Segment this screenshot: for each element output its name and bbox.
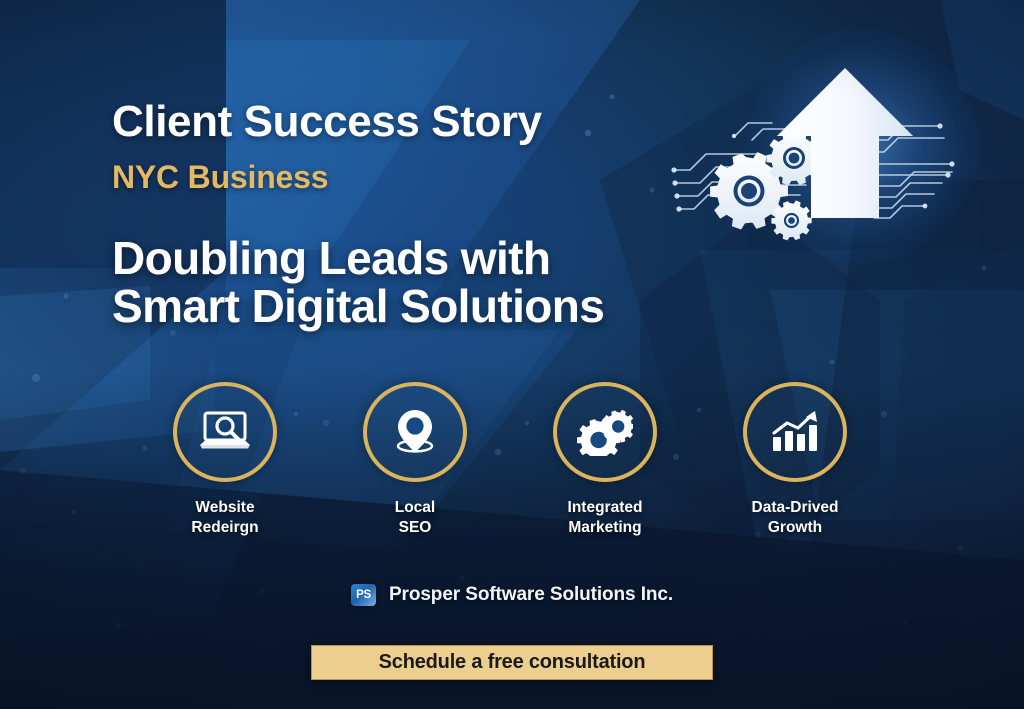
- feature-label: Website Redeirgn: [191, 498, 258, 539]
- main-title-line-1: Doubling Leads with: [112, 234, 812, 282]
- company-logo-badge: PS: [351, 584, 376, 606]
- feature-label: Local SEO: [395, 498, 435, 539]
- feature-list: Website Redeirgn Local SEO: [140, 382, 880, 539]
- feature-item-integrated-marketing[interactable]: Integrated Marketing: [520, 382, 690, 539]
- poster-canvas: Client Success Story NYC Business Doubli…: [0, 0, 1024, 709]
- feature-item-website-redesign[interactable]: Website Redeirgn: [140, 382, 310, 539]
- location-pin-icon: [390, 408, 440, 456]
- feature-ring: [363, 382, 467, 482]
- feature-ring: [743, 382, 847, 482]
- main-title: Doubling Leads with Smart Digital Soluti…: [112, 234, 812, 331]
- feature-ring: [553, 382, 657, 482]
- schedule-consultation-button[interactable]: Schedule a free consultation: [311, 645, 713, 680]
- gear-medium: [767, 131, 822, 186]
- feature-ring: [173, 382, 277, 482]
- feature-label: Integrated Marketing: [568, 498, 643, 539]
- headline-block: Client Success Story NYC Business: [112, 100, 752, 193]
- gears-icon: [577, 408, 633, 456]
- company-name: Prosper Software Solutions Inc.: [389, 584, 673, 606]
- hero-glow: [745, 28, 980, 263]
- upward-arrow-icon: [777, 68, 913, 218]
- feature-label: Data-Drived Growth: [752, 498, 839, 539]
- laptop-search-icon: [198, 410, 252, 454]
- company-logo-text: PS: [356, 589, 371, 601]
- headline-subkicker: NYC Business: [112, 161, 752, 193]
- brand-lockup: PS Prosper Software Solutions Inc.: [0, 584, 1024, 606]
- bar-chart-growth-icon: [769, 409, 821, 455]
- feature-item-data-driven-growth[interactable]: Data-Drived Growth: [710, 382, 880, 539]
- main-title-line-2: Smart Digital Solutions: [112, 282, 812, 330]
- headline-kicker: Client Success Story: [112, 100, 752, 144]
- feature-item-local-seo[interactable]: Local SEO: [330, 382, 500, 539]
- cta-label: Schedule a free consultation: [379, 651, 646, 674]
